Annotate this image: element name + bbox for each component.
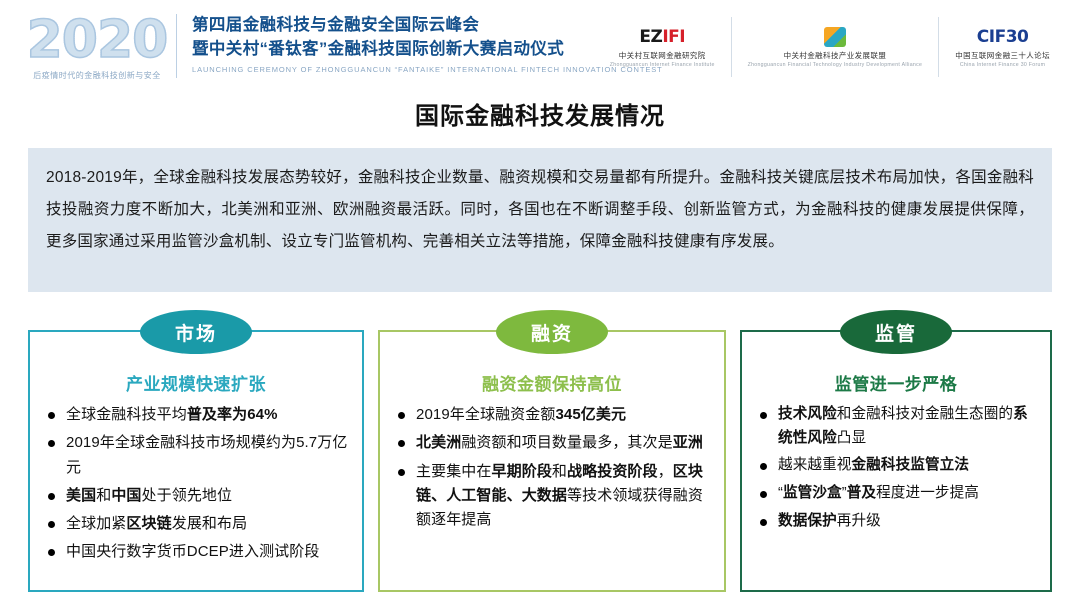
logo-ezifi-cn: 中关村互联网金融研究院 xyxy=(619,50,706,61)
page-title: 国际金融科技发展情况 xyxy=(0,96,1080,131)
zgc-alliance-mark-icon xyxy=(824,27,846,47)
cif30-wordmark-icon: CIF30 xyxy=(977,27,1029,47)
intro-paragraph: 2018-2019年，全球金融科技发展态势较好，金融科技企业数量、融资规模和交易… xyxy=(46,162,1034,257)
logo-zgc-alliance-en: Zhongguancun Financial Technology Indust… xyxy=(748,62,923,68)
logo-ezifi: EZIFI 中关村互联网金融研究院 Zhongguancun Internet … xyxy=(594,17,731,77)
list-item: 技术风险和金融科技对金融生态圈的系统性风险凸显 xyxy=(754,403,1038,450)
card-market-bullets: 全球金融科技平均普及率为64%2019年全球金融科技市场规模约为5.7万亿元美国… xyxy=(42,403,350,565)
list-item: 2019年全球融资金额345亿美元 xyxy=(392,403,712,427)
list-item: 中国央行数字货币DCEP进入测试阶段 xyxy=(42,540,350,564)
list-item: 全球加紧区块链发展和布局 xyxy=(42,512,350,536)
ezifi-mark-main: EZ xyxy=(639,27,662,47)
logo-cif30-en: China Internet Finance 30 Forum xyxy=(960,62,1045,68)
ezifi-wordmark-icon: EZIFI xyxy=(639,27,685,47)
card-financing-heading: 融资金额保持高位 xyxy=(392,370,712,395)
card-regulation-heading: 监管进一步严格 xyxy=(754,370,1038,395)
logo-ezifi-en: Zhongguancun Internet Finance Institute xyxy=(610,62,715,68)
partner-logos: EZIFI 中关村互联网金融研究院 Zhongguancun Internet … xyxy=(594,16,1066,78)
list-item: 全球金融科技平均普及率为64% xyxy=(42,403,350,427)
logo-cif30-cn: 中国互联网金融三十人论坛 xyxy=(955,50,1050,61)
header-divider xyxy=(176,14,177,78)
card-market-badge: 市场 xyxy=(140,310,252,354)
year-logo: 2020 后疫情时代的金融科技创新与安全 xyxy=(22,8,172,86)
year-logo-tagline: 后疫情时代的金融科技创新与安全 xyxy=(33,70,161,81)
card-financing-bullets: 2019年全球融资金额345亿美元北美洲融资额和项目数量最多，其次是亚洲主要集中… xyxy=(392,403,712,532)
card-regulation-bullets: 技术风险和金融科技对金融生态圈的系统性风险凸显越来越重视金融科技监管立法“监管沙… xyxy=(754,403,1038,533)
card-market-heading: 产业规模快速扩张 xyxy=(42,370,350,395)
card-regulation-badge: 监管 xyxy=(840,310,952,354)
logo-cif30: CIF30 中国互联网金融三十人论坛 China Internet Financ… xyxy=(938,17,1066,77)
cif30-mark-main: CIF30 xyxy=(977,27,1029,47)
list-item: 美国和中国处于领先地位 xyxy=(42,484,350,508)
list-item: 越来越重视金融科技监管立法 xyxy=(754,454,1038,478)
logo-zgc-alliance-cn: 中关村金融科技产业发展联盟 xyxy=(784,50,887,61)
ezifi-mark-accent: IFI xyxy=(662,27,685,47)
year-logo-number: 2020 xyxy=(27,14,168,66)
logo-zgc-alliance: 中关村金融科技产业发展联盟 Zhongguancun Financial Tec… xyxy=(731,17,939,77)
card-financing: 融资 融资金额保持高位 2019年全球融资金额345亿美元北美洲融资额和项目数量… xyxy=(378,330,726,592)
intro-summary-box: 2018-2019年，全球金融科技发展态势较好，金融科技企业数量、融资规模和交易… xyxy=(28,148,1052,292)
slide-header: 2020 后疫情时代的金融科技创新与安全 第四届金融科技与金融安全国际云峰会 暨… xyxy=(0,0,1080,92)
list-item: 主要集中在早期阶段和战略投资阶段，区块链、人工智能、大数据等技术领域获得融资额逐… xyxy=(392,460,712,533)
card-market: 市场 产业规模快速扩张 全球金融科技平均普及率为64%2019年全球金融科技市场… xyxy=(28,330,364,592)
summary-cards: 市场 产业规模快速扩张 全球金融科技平均普及率为64%2019年全球金融科技市场… xyxy=(28,330,1052,592)
card-regulation: 监管 监管进一步严格 技术风险和金融科技对金融生态圈的系统性风险凸显越来越重视金… xyxy=(740,330,1052,592)
list-item: 北美洲融资额和项目数量最多，其次是亚洲 xyxy=(392,431,712,455)
list-item: 2019年全球金融科技市场规模约为5.7万亿元 xyxy=(42,431,350,480)
list-item: 数据保护再升级 xyxy=(754,510,1038,534)
card-financing-badge: 融资 xyxy=(496,310,608,354)
list-item: “监管沙盒”普及程度进一步提高 xyxy=(754,482,1038,506)
